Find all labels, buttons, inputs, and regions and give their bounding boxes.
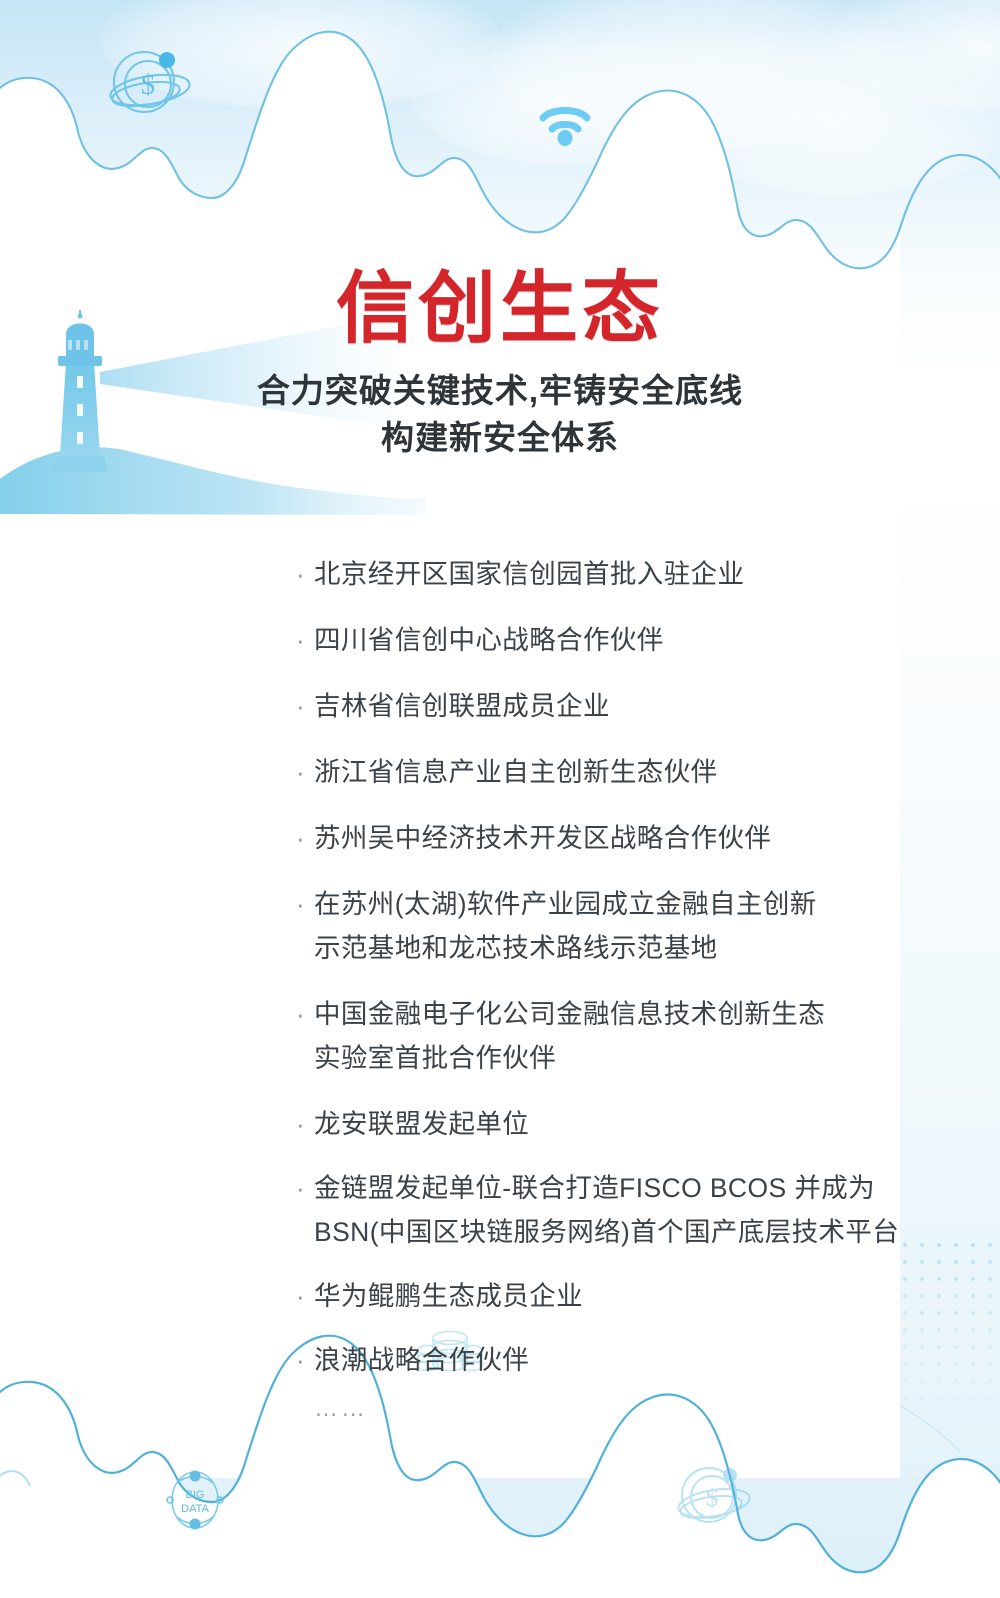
list-item-label: 在苏州(太湖)软件产业园成立金融自主创新 示范基地和龙芯技术路线示范基地: [314, 882, 817, 970]
list-item-label: 吉林省信创联盟成员企业: [314, 684, 610, 728]
page-subtitle: 合力突破关键技术,牢铸安全底线 构建新安全体系: [0, 368, 1000, 462]
list-item: · 金链盟发起单位-联合打造FISCO BCOS 并成为 BSN(中国区块链服务…: [296, 1166, 936, 1254]
list-item: · 中国金融电子化公司金融信息技术创新生态 实验室首批合作伙伴: [296, 992, 936, 1080]
list-ellipsis: ……: [314, 1396, 936, 1422]
list-item-label: 中国金融电子化公司金融信息技术创新生态 实验室首批合作伙伴: [314, 992, 825, 1080]
bullet-marker-icon: ·: [296, 552, 314, 596]
bullet-marker-icon: ·: [296, 1102, 314, 1146]
list-item: · 苏州吴中经济技术开发区战略合作伙伴: [296, 816, 936, 860]
subtitle-line-1: 合力突破关键技术,牢铸安全底线: [0, 368, 1000, 415]
big-data-icon: BIG DATA: [163, 1465, 227, 1540]
credentials-list: · 北京经开区国家信创园首批入驻企业 · 四川省信创中心战略合作伙伴 · 吉林省…: [296, 552, 936, 1422]
list-item: · 北京经开区国家信创园首批入驻企业: [296, 552, 936, 596]
dollar-symbol: $: [141, 70, 155, 101]
list-item-label: 苏州吴中经济技术开发区战略合作伙伴: [314, 816, 771, 860]
list-item-label: 龙安联盟发起单位: [314, 1102, 529, 1146]
bullet-marker-icon: ·: [296, 1274, 314, 1318]
list-item-label: 浪潮战略合作伙伴: [314, 1338, 529, 1382]
bullet-marker-icon: ·: [296, 684, 314, 728]
list-item-label: 华为鲲鹏生态成员企业: [314, 1274, 583, 1318]
bullet-marker-icon: ·: [296, 1338, 314, 1382]
bullet-marker-icon: ·: [296, 1166, 314, 1210]
bullet-marker-icon: ·: [296, 618, 314, 662]
list-item: · 四川省信创中心战略合作伙伴: [296, 618, 936, 662]
title-block: 信创生态 合力突破关键技术,牢铸安全底线 构建新安全体系: [0, 268, 1000, 462]
dollar-coin-orbit-icon: $: [665, 1455, 761, 1546]
list-item: · 在苏州(太湖)软件产业园成立金融自主创新 示范基地和龙芯技术路线示范基地: [296, 882, 936, 970]
list-item: · 龙安联盟发起单位: [296, 1102, 936, 1146]
big-data-label-line2: DATA: [181, 1503, 209, 1515]
list-item: · 华为鲲鹏生态成员企业: [296, 1274, 936, 1318]
dollar-coin-orbit-icon: $: [96, 38, 200, 137]
list-item-label: 浙江省信息产业自主创新生态伙伴: [314, 750, 718, 794]
wifi-icon: [536, 98, 594, 151]
bullet-marker-icon: ·: [296, 882, 314, 926]
dollar-symbol: $: [706, 1485, 719, 1512]
list-item: · 浙江省信息产业自主创新生态伙伴: [296, 750, 936, 794]
list-item: · 吉林省信创联盟成员企业: [296, 684, 936, 728]
list-item: · 浪潮战略合作伙伴: [296, 1338, 936, 1382]
subtitle-line-2: 构建新安全体系: [0, 415, 1000, 462]
big-data-label-line1: BIG: [186, 1489, 205, 1501]
poster-root: $: [0, 0, 1000, 1598]
bullet-marker-icon: ·: [296, 992, 314, 1036]
page-title: 信创生态: [0, 268, 1000, 350]
bullet-marker-icon: ·: [296, 816, 314, 860]
list-item-label: 四川省信创中心战略合作伙伴: [314, 618, 664, 662]
list-item-label: 金链盟发起单位-联合打造FISCO BCOS 并成为 BSN(中国区块链服务网络…: [314, 1166, 899, 1254]
list-item-label: 北京经开区国家信创园首批入驻企业: [314, 552, 744, 596]
bullet-marker-icon: ·: [296, 750, 314, 794]
